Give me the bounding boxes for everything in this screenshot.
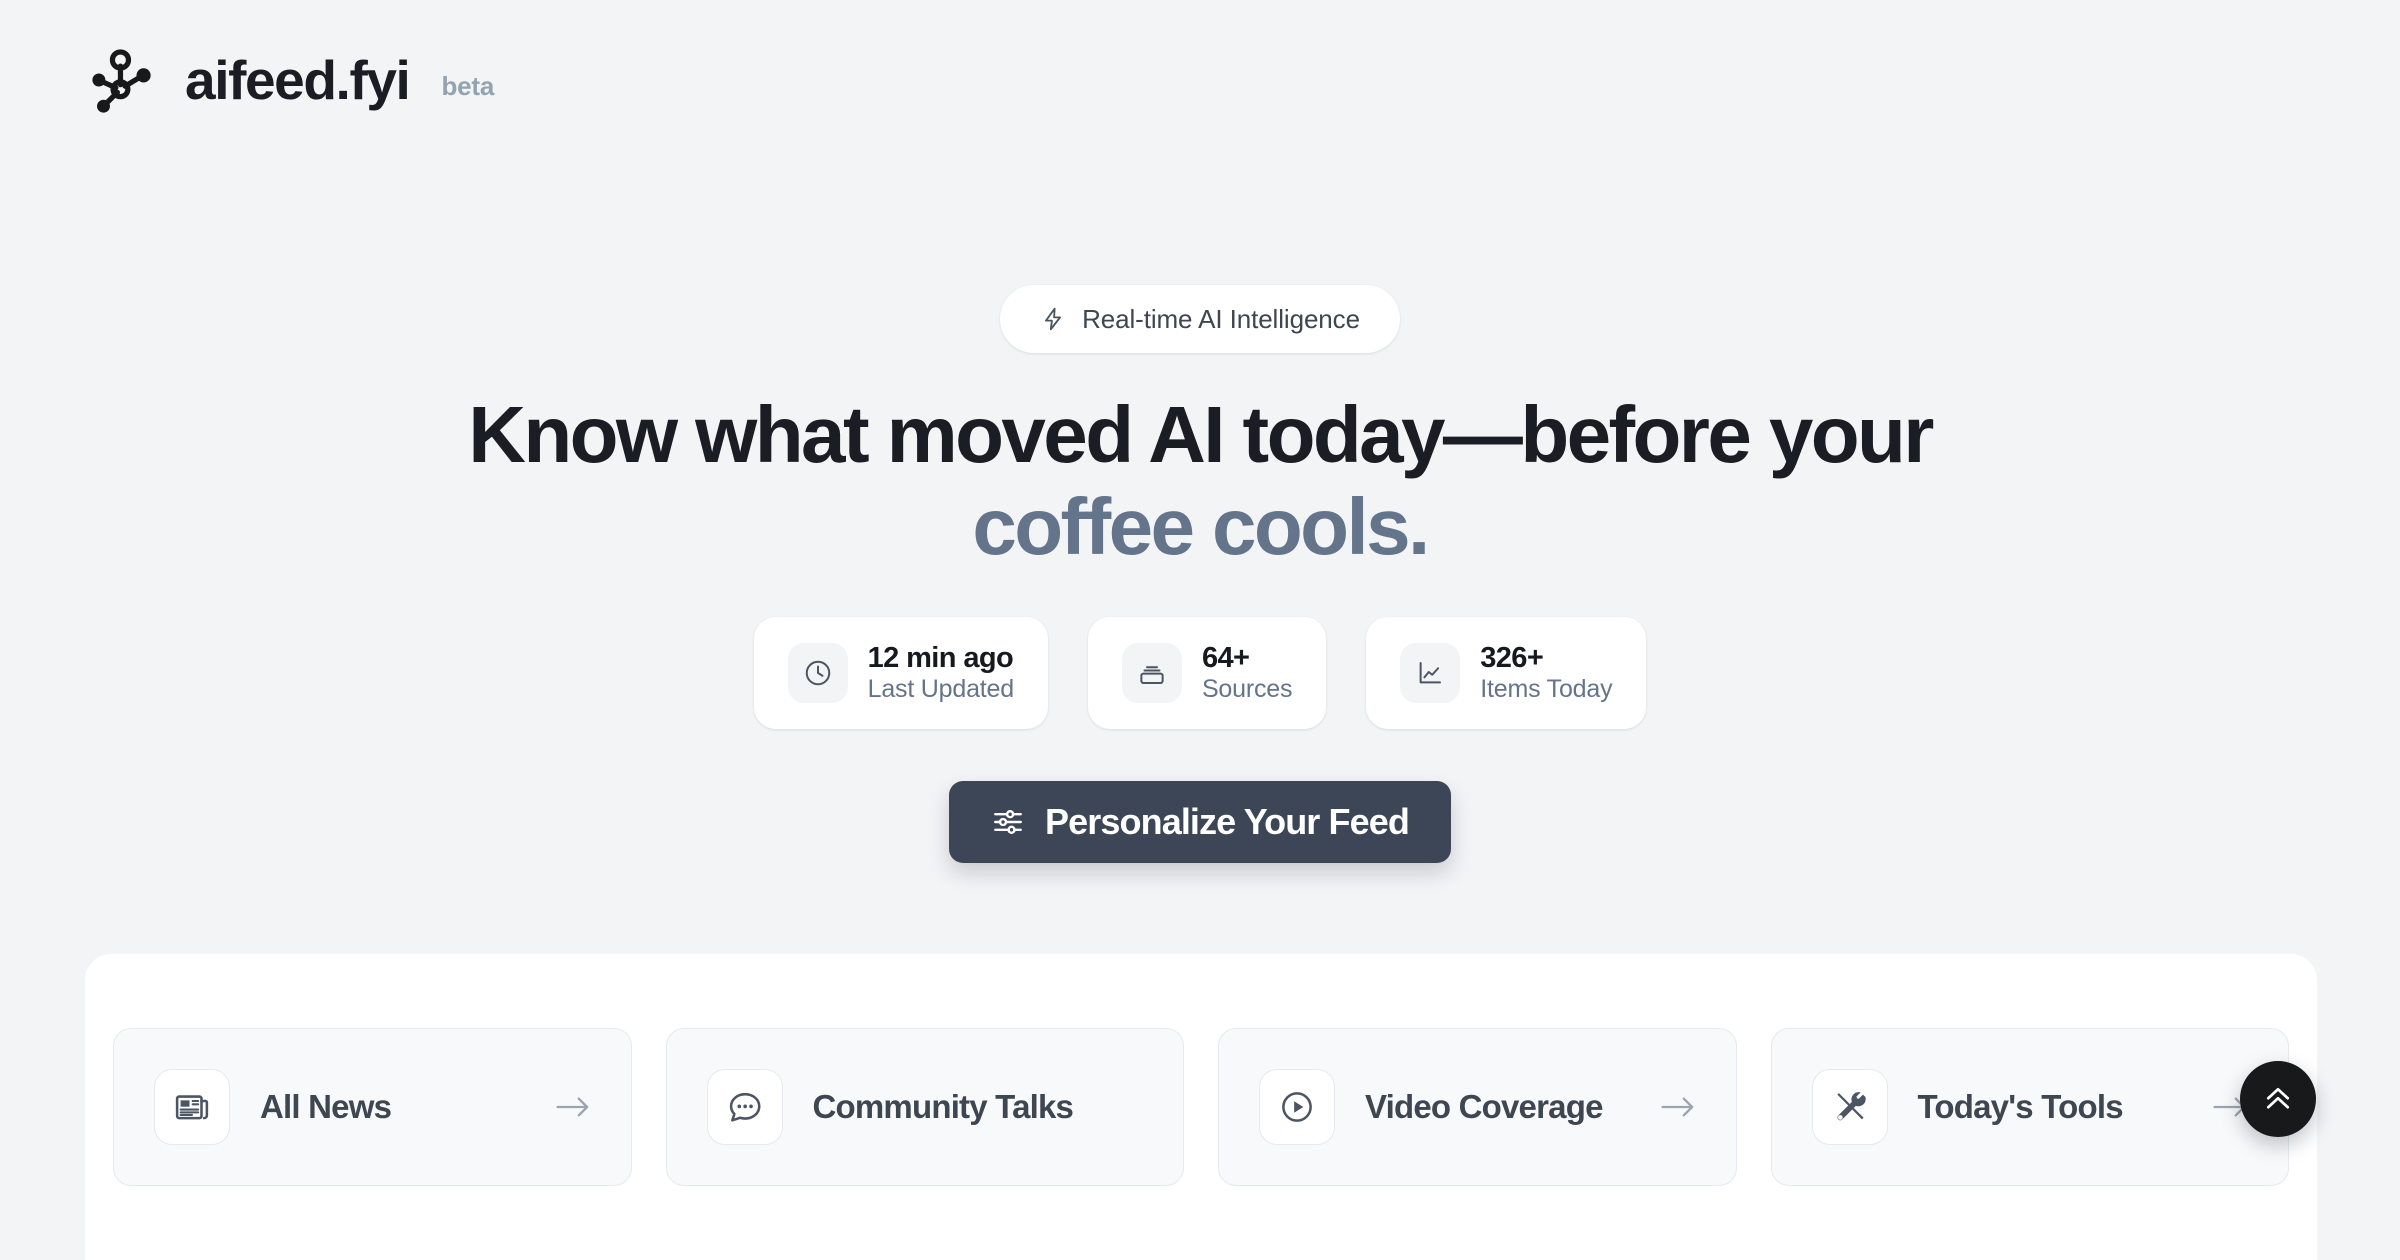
play-circle-icon <box>1259 1069 1335 1145</box>
scroll-to-top-button[interactable] <box>2240 1061 2316 1137</box>
chevrons-up-icon <box>2260 1081 2296 1117</box>
stat-label: Last Updated <box>868 675 1014 704</box>
beta-badge: beta <box>441 59 494 102</box>
page-title: Know what moved AI today—before your cof… <box>468 389 1932 573</box>
clock-icon <box>788 643 848 703</box>
sliders-icon <box>991 805 1025 839</box>
headline-line-2: coffee cools. <box>468 481 1932 573</box>
nav-card-label: Community Talks <box>813 1088 1074 1126</box>
stat-value: 12 min ago <box>868 642 1014 675</box>
personalize-feed-button[interactable]: Personalize Your Feed <box>949 781 1451 863</box>
nav-card-video-coverage[interactable]: Video Coverage <box>1218 1028 1737 1186</box>
stat-label: Items Today <box>1480 675 1612 704</box>
stat-card-sources: 64+ Sources <box>1088 617 1326 729</box>
arrow-right-icon <box>1660 1094 1696 1120</box>
headline-line-1: Know what moved AI today—before your <box>468 389 1932 481</box>
arrow-right-icon <box>555 1094 591 1120</box>
nav-card-label: Today's Tools <box>1918 1088 2123 1126</box>
nav-card-community-talks[interactable]: Community Talks <box>666 1028 1185 1186</box>
newspaper-icon <box>154 1069 230 1145</box>
chart-line-icon <box>1400 643 1460 703</box>
brand-name: aifeed.fyi <box>185 53 409 108</box>
stat-value: 64+ <box>1202 642 1292 675</box>
lightning-bolt-icon <box>1040 306 1066 332</box>
nav-panel: All News Community Talks <box>85 954 2317 1260</box>
stat-card-last-updated: 12 min ago Last Updated <box>754 617 1048 729</box>
realtime-badge-label: Real-time AI Intelligence <box>1082 304 1360 335</box>
nav-card-all-news[interactable]: All News <box>113 1028 632 1186</box>
chat-bubble-icon <box>707 1069 783 1145</box>
stat-label: Sources <box>1202 675 1292 704</box>
stat-value: 326+ <box>1480 642 1612 675</box>
realtime-badge: Real-time AI Intelligence <box>1000 285 1400 353</box>
nav-card-label: Video Coverage <box>1365 1088 1603 1126</box>
brand[interactable]: aifeed.fyi beta <box>85 43 494 117</box>
stat-card-items-today: 326+ Items Today <box>1366 617 1646 729</box>
personalize-feed-label: Personalize Your Feed <box>1045 801 1409 843</box>
network-nodes-icon <box>85 43 159 117</box>
site-header: aifeed.fyi beta <box>0 0 2400 160</box>
stats-row: 12 min ago Last Updated 64+ Sources <box>754 617 1647 729</box>
tools-icon <box>1812 1069 1888 1145</box>
nav-card-todays-tools[interactable]: Today's Tools <box>1771 1028 2290 1186</box>
hero-section: Real-time AI Intelligence Know what move… <box>0 160 2400 863</box>
nav-card-label: All News <box>260 1088 391 1126</box>
layers-icon <box>1122 643 1182 703</box>
